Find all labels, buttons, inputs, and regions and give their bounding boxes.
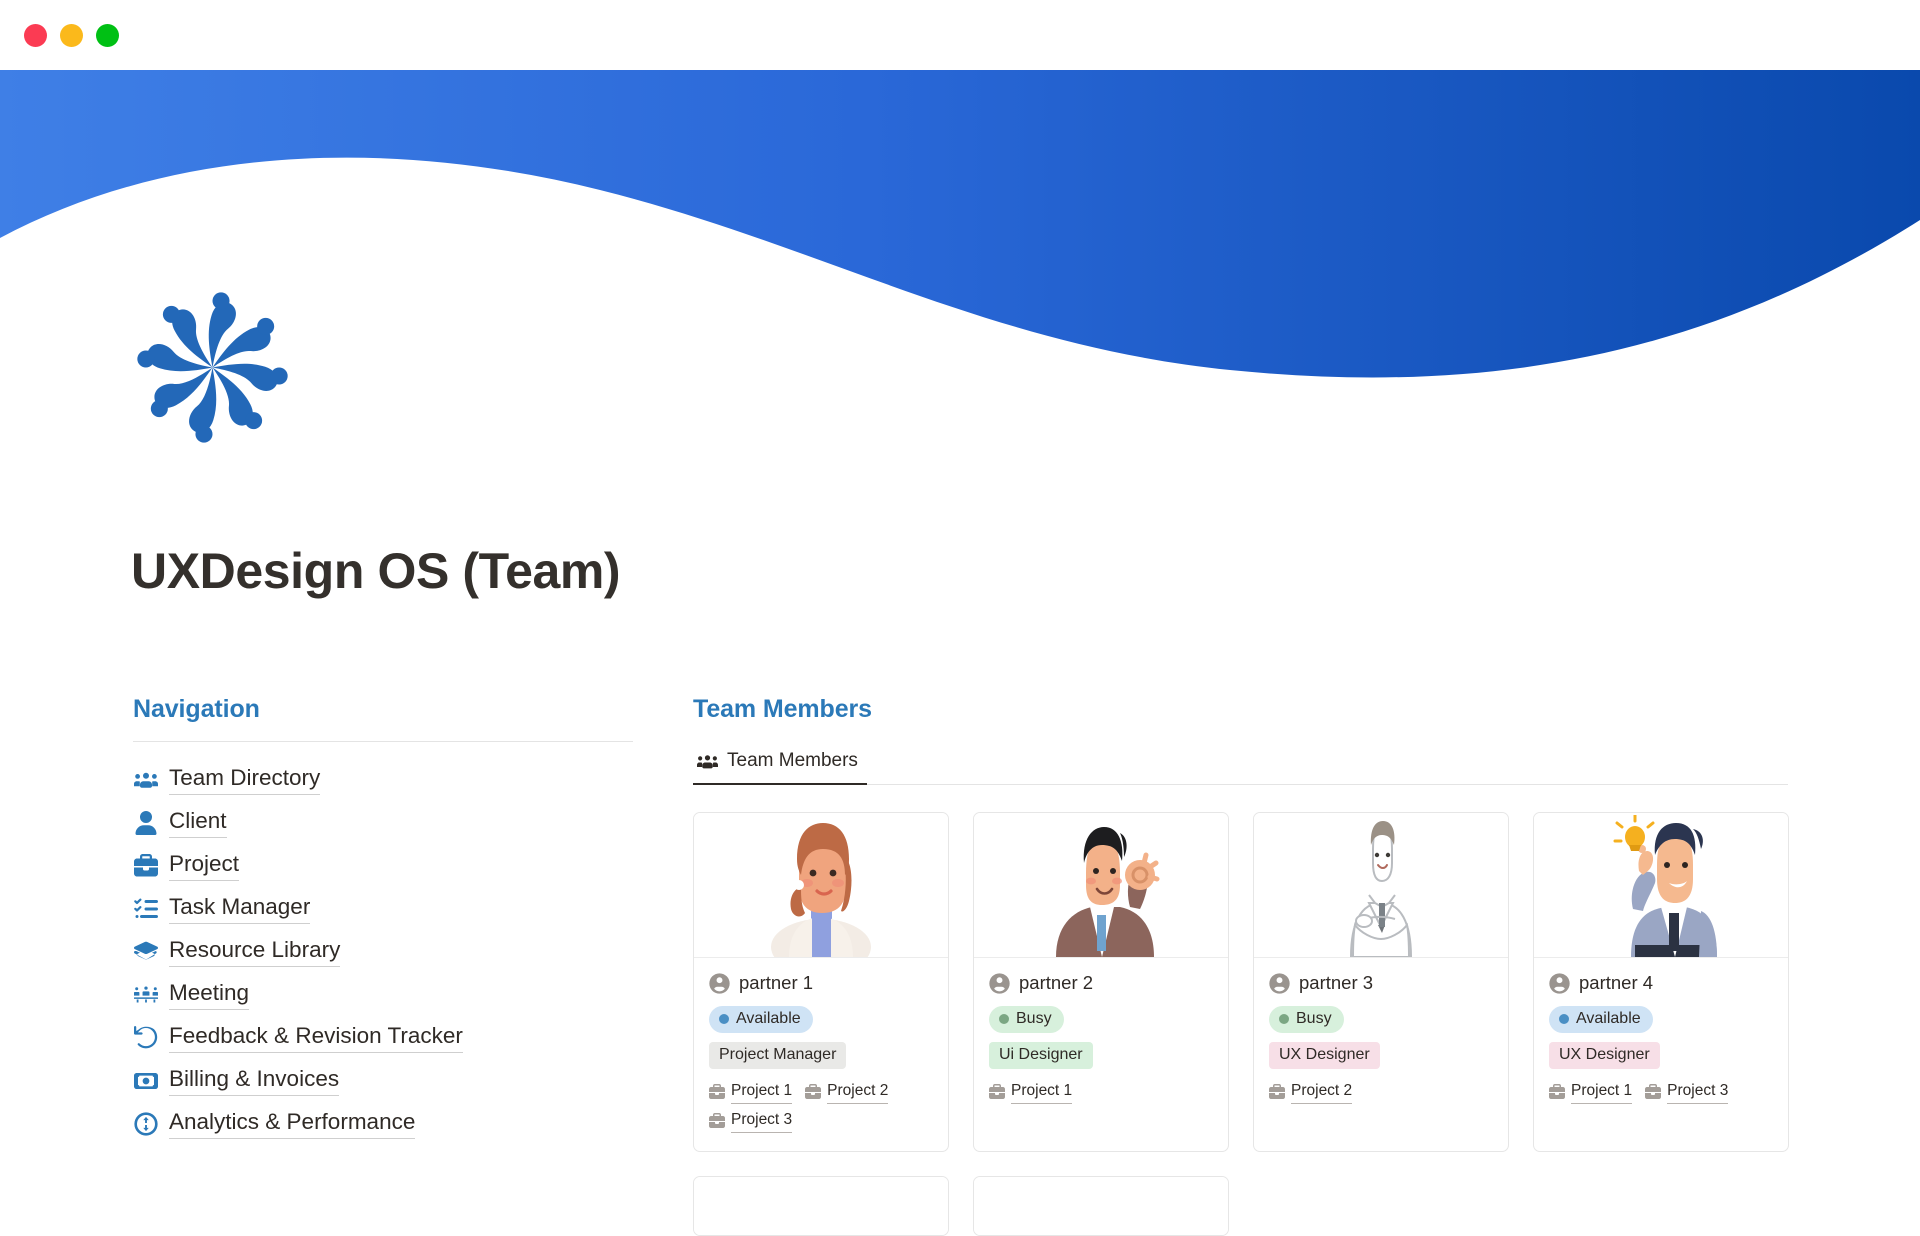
status-badge: Available (709, 1006, 813, 1033)
sidebar-item-label: Task Manager (169, 893, 310, 924)
sidebar-item-label: Feedback & Revision Tracker (169, 1022, 463, 1053)
sidebar-item-label: Client (169, 807, 227, 838)
people-group-icon (133, 767, 158, 792)
member-card[interactable]: partner 2 Busy Ui Designer Project 1 (973, 812, 1229, 1152)
sidebar-item-project[interactable]: Project (133, 844, 633, 887)
project-label: Project 2 (1291, 1079, 1352, 1104)
briefcase-icon (709, 1084, 725, 1100)
sidebar-item-label: Meeting (169, 979, 249, 1010)
avatar-man-brown-suit-ok-gesture (974, 813, 1228, 958)
role-badge: UX Designer (1269, 1042, 1380, 1069)
analytics-circle-icon (133, 1111, 158, 1136)
briefcase-icon (1549, 1084, 1565, 1100)
sidebar-item-client[interactable]: Client (133, 801, 633, 844)
person-circle-icon (989, 973, 1010, 994)
sidebar-item-analytics-performance[interactable]: Analytics & Performance (133, 1102, 633, 1145)
person-circle-icon (709, 973, 730, 994)
briefcase-icon (1645, 1084, 1661, 1100)
tab-team-members[interactable]: Team Members (693, 750, 867, 785)
project-label: Project 1 (1571, 1079, 1632, 1104)
project-link[interactable]: Project 1 (989, 1079, 1072, 1104)
member-name: partner 1 (739, 972, 813, 994)
member-card-placeholder (1253, 1176, 1509, 1236)
avatar-man-line-art-arms-crossed (1254, 813, 1508, 958)
briefcase-icon (989, 1084, 1005, 1100)
project-label: Project 2 (827, 1079, 888, 1104)
close-window-button[interactable] (24, 24, 47, 47)
sidebar-item-label: Billing & Invoices (169, 1065, 339, 1096)
member-card-grid-row2 (693, 1176, 1788, 1236)
member-card[interactable] (693, 1176, 949, 1236)
status-dot (1279, 1014, 1289, 1024)
role-badge: UX Designer (1549, 1042, 1660, 1069)
status-label: Available (1576, 1010, 1641, 1028)
sidebar-item-label: Analytics & Performance (169, 1108, 415, 1139)
project-label: Project 1 (1011, 1079, 1072, 1104)
avatar-woman-long-brown-hair (694, 1177, 948, 1236)
team-members-heading: Team Members (693, 695, 1788, 724)
member-card-grid: partner 1 Available Project Manager Proj… (693, 812, 1788, 1152)
sidebar-item-billing-invoices[interactable]: Billing & Invoices (133, 1059, 633, 1102)
project-label: Project 1 (731, 1079, 792, 1104)
project-links: Project 1 Project 2 Project 3 (709, 1079, 933, 1133)
meeting-people-icon (133, 982, 158, 1007)
sidebar-item-team-directory[interactable]: Team Directory (133, 758, 633, 801)
avatar-man-idea-lightbulb (1534, 813, 1788, 958)
member-name: partner 3 (1299, 972, 1373, 994)
minimize-window-button[interactable] (60, 24, 83, 47)
member-card[interactable]: partner 3 Busy UX Designer Project 2 (1253, 812, 1509, 1152)
briefcase-icon (709, 1113, 725, 1129)
project-link[interactable]: Project 1 (709, 1079, 792, 1104)
layers-icon (133, 939, 158, 964)
status-badge: Available (1549, 1006, 1653, 1033)
status-label: Busy (1296, 1010, 1332, 1028)
member-card[interactable]: partner 1 Available Project Manager Proj… (693, 812, 949, 1152)
member-name: partner 2 (1019, 972, 1093, 994)
sidebar-item-label: Project (169, 850, 239, 881)
status-dot (999, 1014, 1009, 1024)
status-dot (1559, 1014, 1569, 1024)
avatar-woman-auburn-hair (694, 813, 948, 958)
sidebar-item-label: Resource Library (169, 936, 340, 967)
status-label: Busy (1016, 1010, 1052, 1028)
sidebar-item-resource-library[interactable]: Resource Library (133, 930, 633, 973)
sidebar-item-feedback-revision-tracker[interactable]: Feedback & Revision Tracker (133, 1016, 633, 1059)
person-circle-icon (1549, 973, 1570, 994)
maximize-window-button[interactable] (96, 24, 119, 47)
status-badge: Busy (1269, 1006, 1344, 1033)
navigation-panel: Navigation Team Directory Client (133, 695, 633, 1145)
member-card[interactable]: partner 4 Available UX Designer Project … (1533, 812, 1789, 1152)
tab-label: Team Members (727, 750, 858, 772)
project-link[interactable]: Project 1 (1549, 1079, 1632, 1104)
member-card[interactable] (973, 1176, 1229, 1236)
money-bill-icon (133, 1068, 158, 1093)
project-links: Project 2 (1269, 1079, 1493, 1104)
project-label: Project 3 (731, 1108, 792, 1133)
sidebar-item-label: Team Directory (169, 764, 320, 795)
page-title: UXDesign OS (Team) (131, 542, 620, 600)
role-badge: Ui Designer (989, 1042, 1093, 1069)
status-dot (719, 1014, 729, 1024)
project-links: Project 1 (989, 1079, 1213, 1104)
project-link[interactable]: Project 2 (1269, 1079, 1352, 1104)
person-circle-icon (1269, 973, 1290, 994)
status-badge: Busy (989, 1006, 1064, 1033)
project-link[interactable]: Project 2 (805, 1079, 888, 1104)
member-card-placeholder (1533, 1176, 1789, 1236)
briefcase-icon (1269, 1084, 1285, 1100)
project-link[interactable]: Project 3 (709, 1108, 792, 1133)
team-members-panel: Team Members Team Members (693, 695, 1788, 1236)
people-group-icon (697, 751, 718, 772)
briefcase-icon (133, 853, 158, 878)
project-links: Project 1 Project 3 (1549, 1079, 1773, 1104)
sidebar-item-task-manager[interactable]: Task Manager (133, 887, 633, 930)
person-icon (133, 810, 158, 835)
checklist-icon (133, 896, 158, 921)
project-link[interactable]: Project 3 (1645, 1079, 1728, 1104)
member-name: partner 4 (1579, 972, 1653, 994)
navigation-heading: Navigation (133, 695, 633, 724)
status-label: Available (736, 1010, 801, 1028)
project-label: Project 3 (1667, 1079, 1728, 1104)
briefcase-icon (805, 1084, 821, 1100)
navigation-divider (133, 741, 633, 742)
navigation-list: Team Directory Client Project (133, 758, 633, 1145)
window-titlebar (0, 0, 1920, 70)
team-pinwheel-logo (135, 290, 290, 445)
role-badge: Project Manager (709, 1042, 846, 1069)
history-rotate-icon (133, 1025, 158, 1050)
avatar-person-black-hair (974, 1177, 1228, 1236)
sidebar-item-meeting[interactable]: Meeting (133, 973, 633, 1016)
tab-bar: Team Members (693, 741, 1788, 785)
